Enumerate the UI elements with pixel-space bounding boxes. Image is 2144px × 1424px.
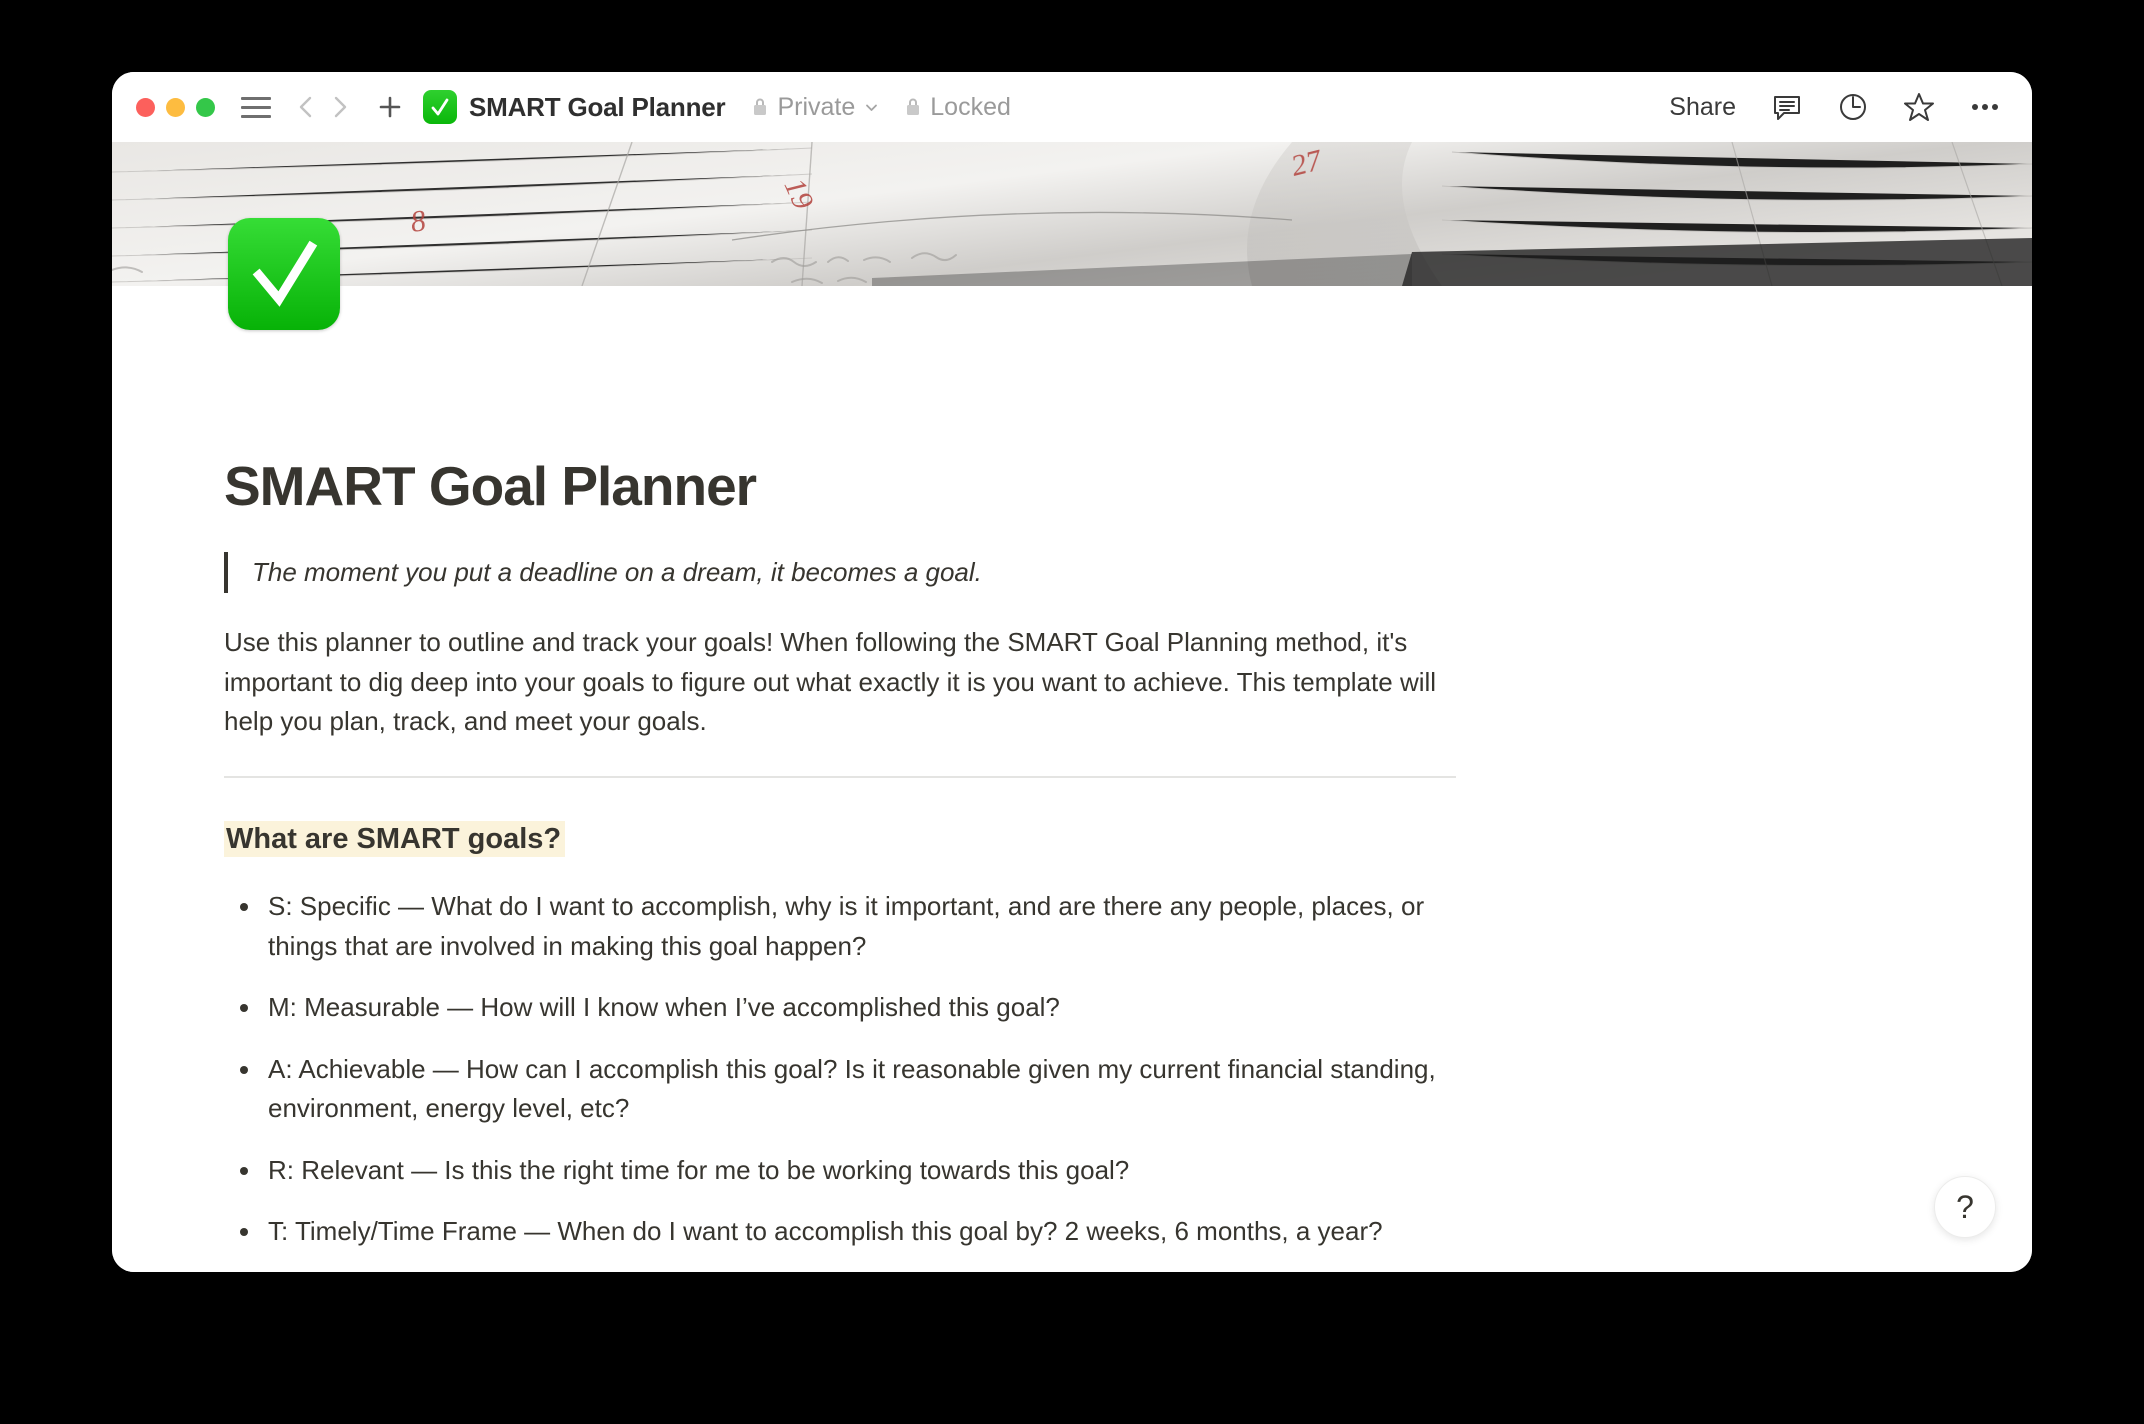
chevron-down-icon[interactable] [863, 99, 880, 116]
privacy-label: Private [777, 93, 855, 122]
list-item[interactable]: S: Specific — What do I want to accompli… [224, 887, 1456, 966]
help-button[interactable]: ? [1934, 1176, 1996, 1238]
quote-accent-bar [224, 552, 228, 594]
privacy-selector[interactable]: Private [751, 93, 880, 122]
section-heading-row: What are SMART goals? [224, 818, 1456, 862]
section-heading[interactable]: What are SMART goals? [224, 821, 565, 857]
lock-icon [751, 96, 769, 118]
plus-icon[interactable] [373, 90, 407, 124]
intro-paragraph[interactable]: Use this planner to outline and track yo… [224, 623, 1456, 742]
chevron-right-icon[interactable] [327, 90, 353, 124]
locked-label: Locked [930, 93, 1011, 122]
app-window: SMART Goal Planner Private [112, 72, 2032, 1272]
traffic-lights [136, 98, 215, 117]
quote-block[interactable]: The moment you put a deadline on a dream… [224, 552, 1456, 594]
cover-artwork: 8 19 27 [112, 142, 2032, 286]
page-title-toolbar[interactable]: SMART Goal Planner [469, 92, 725, 123]
document-body: SMART Goal Planner The moment you put a … [112, 286, 2032, 1272]
list-item[interactable]: A: Achievable — How can I accomplish thi… [224, 1050, 1456, 1129]
page-cover-image[interactable]: 8 19 27 [112, 142, 2032, 286]
maximize-window-button[interactable] [196, 98, 215, 117]
page-title[interactable]: SMART Goal Planner [224, 456, 1456, 518]
lock-icon [904, 96, 922, 118]
hamburger-icon[interactable] [241, 94, 271, 120]
clock-icon[interactable] [1836, 90, 1870, 124]
list-item[interactable]: T: Timely/Time Frame — When do I want to… [224, 1212, 1456, 1252]
section-divider [224, 776, 1456, 778]
page-icon-green-check-icon[interactable] [228, 218, 340, 330]
list-item[interactable]: R: Relevant — Is this the right time for… [224, 1151, 1456, 1191]
quote-text: The moment you put a deadline on a dream… [252, 552, 982, 594]
window-toolbar: SMART Goal Planner Private [112, 72, 2032, 142]
share-button[interactable]: Share [1669, 93, 1736, 122]
green-check-icon[interactable] [423, 90, 457, 124]
close-window-button[interactable] [136, 98, 155, 117]
star-icon[interactable] [1902, 90, 1936, 124]
comment-bubble-icon[interactable] [1770, 90, 1804, 124]
list-item[interactable]: M: Measurable — How will I know when I’v… [224, 988, 1456, 1028]
smart-goals-list: S: Specific — What do I want to accompli… [224, 887, 1456, 1252]
locked-indicator[interactable]: Locked [904, 93, 1011, 122]
ellipsis-icon[interactable] [1968, 90, 2002, 124]
minimize-window-button[interactable] [166, 98, 185, 117]
chevron-left-icon[interactable] [293, 90, 319, 124]
page-content: SMART Goal Planner The moment you put a … [224, 456, 1456, 1272]
